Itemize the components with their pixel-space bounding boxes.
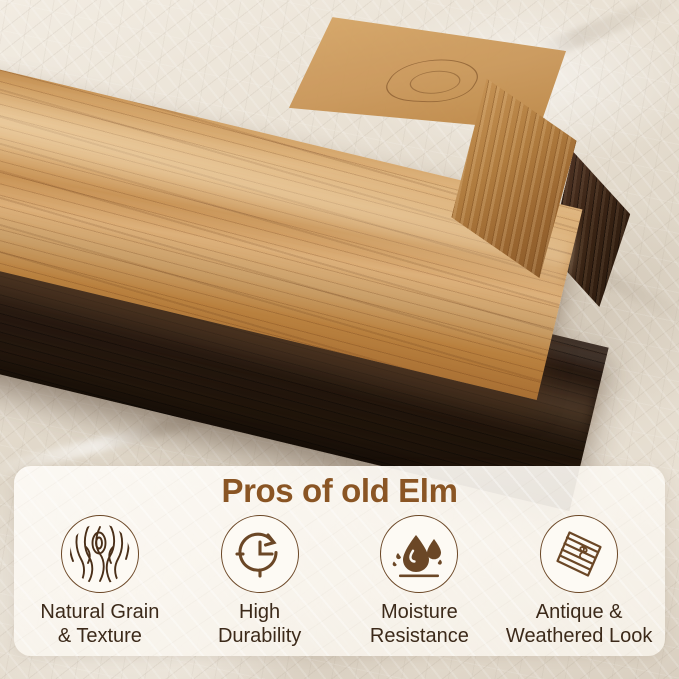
panel-title: Pros of old Elm — [14, 472, 665, 510]
feature-list: Natural Grain & Texture High — [14, 515, 665, 648]
feature-label: Antique & Weathered Look — [506, 601, 652, 648]
feature-item: Natural Grain & Texture — [20, 515, 180, 648]
feature-label: Moisture Resistance — [370, 601, 469, 648]
feature-item: High Durability — [180, 515, 340, 648]
feature-label: Natural Grain & Texture — [40, 601, 159, 648]
product-image-scene: Pros of old Elm — [0, 0, 679, 679]
wood-grain-icon — [61, 515, 139, 593]
feature-label: High Durability — [218, 601, 301, 648]
water-droplet-icon — [380, 515, 458, 593]
feature-item: Moisture Resistance — [340, 515, 500, 648]
clock-arrow-icon — [221, 515, 299, 593]
feature-item: Antique & Weathered Look — [499, 515, 659, 648]
pros-info-panel: Pros of old Elm — [14, 466, 665, 656]
wood-plank-icon — [540, 515, 618, 593]
